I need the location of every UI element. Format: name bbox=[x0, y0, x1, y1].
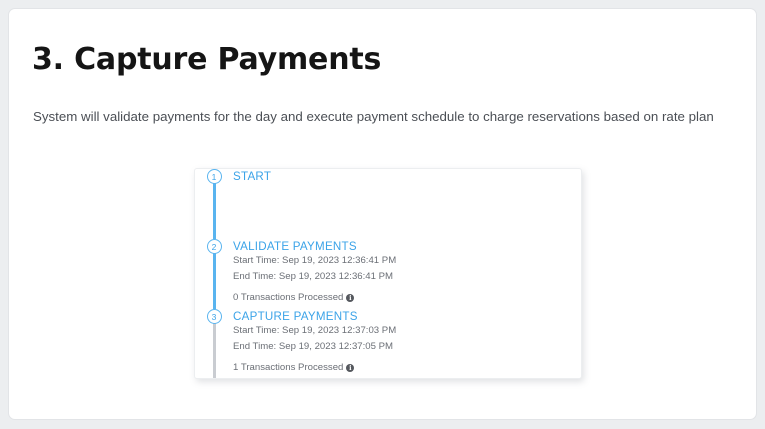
step-end-time: End Time: Sep 19, 2023 12:36:41 PM bbox=[233, 269, 581, 285]
step-transactions-processed: 0 Transactions Processedi bbox=[233, 290, 581, 306]
step-end-time: End Time: Sep 19, 2023 12:37:05 PM bbox=[233, 339, 581, 355]
info-icon[interactable]: i bbox=[346, 364, 354, 372]
step-transactions-label: 1 Transactions Processed bbox=[233, 362, 343, 373]
step-connector-line bbox=[213, 323, 216, 379]
step-transactions-label: 0 Transactions Processed bbox=[233, 292, 343, 303]
step-marker: 3 bbox=[204, 309, 224, 379]
step-number-badge: 3 bbox=[207, 309, 222, 324]
timeline-step-start[interactable]: 1 START bbox=[195, 169, 581, 239]
page-subtitle: System will validate payments for the da… bbox=[33, 106, 733, 128]
step-start-time: Start Time: Sep 19, 2023 12:37:03 PM bbox=[233, 323, 581, 339]
step-start-time: Start Time: Sep 19, 2023 12:36:41 PM bbox=[233, 253, 581, 269]
step-number-badge: 2 bbox=[207, 239, 222, 254]
step-number-badge: 1 bbox=[207, 169, 222, 184]
timeline-step-validate-payments[interactable]: 2 VALIDATE PAYMENTS Start Time: Sep 19, … bbox=[195, 239, 581, 309]
step-title: CAPTURE PAYMENTS bbox=[233, 309, 581, 323]
step-title: START bbox=[233, 169, 581, 183]
page-title: 3. Capture Payments bbox=[32, 42, 381, 77]
step-connector-line bbox=[213, 183, 216, 239]
step-marker: 1 bbox=[204, 169, 224, 239]
page-container: 3. Capture Payments System will validate… bbox=[8, 8, 757, 420]
step-marker: 2 bbox=[204, 239, 224, 309]
timeline-step-capture-payments[interactable]: 3 CAPTURE PAYMENTS Start Time: Sep 19, 2… bbox=[195, 309, 581, 379]
info-icon[interactable]: i bbox=[346, 294, 354, 302]
step-transactions-processed: 1 Transactions Processedi bbox=[233, 360, 581, 376]
step-title: VALIDATE PAYMENTS bbox=[233, 239, 581, 253]
timeline-card[interactable]: 1 START 2 VALIDATE PAYMENTS Start Time: … bbox=[194, 168, 582, 379]
timeline-list: 1 START 2 VALIDATE PAYMENTS Start Time: … bbox=[195, 169, 581, 379]
step-connector-line bbox=[213, 253, 216, 309]
